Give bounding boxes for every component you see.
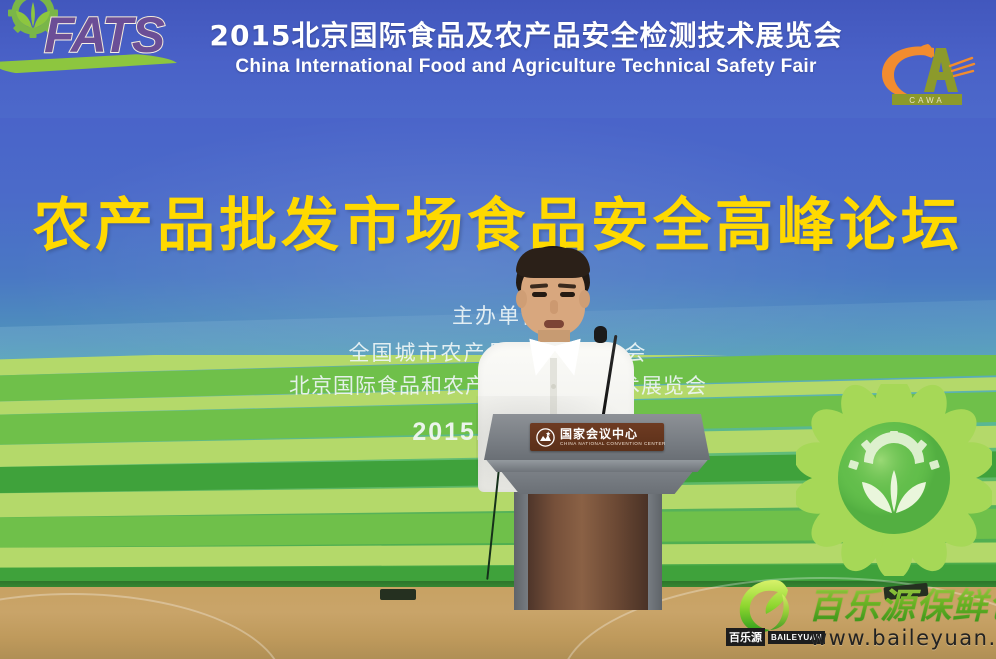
podium-side-right — [646, 492, 662, 610]
speaker-mouth — [544, 320, 564, 328]
cawa-wheat-icon: CAWA — [872, 36, 980, 110]
fats-logo: FATS — [0, 0, 176, 92]
speaker-ear-right — [579, 290, 590, 308]
watermark-badge-cn: 百乐源 — [726, 628, 765, 646]
venue-plaque-en: CHINA NATIONAL CONVENTION CENTER — [560, 442, 666, 447]
podium-top: 国家会议中心 CHINA NATIONAL CONVENTION CENTER — [484, 414, 710, 460]
photo-scene: FATS 2015北京国际食品及农产品安全检测技术展览会 China Inter… — [0, 0, 996, 659]
podium-mid-band — [500, 470, 694, 494]
green-sunflower-gear-icon — [796, 384, 992, 576]
microphone-head — [594, 326, 607, 343]
speaker-ear-left — [516, 290, 527, 308]
podium: 国家会议中心 CHINA NATIONAL CONVENTION CENTER — [484, 414, 710, 610]
banner-header-title-cn: 2015北京国际食品及农产品安全检测技术展览会 — [196, 14, 856, 54]
speaker-nose — [550, 300, 558, 314]
fats-logo-text: FATS — [44, 6, 164, 64]
venue-plaque-cn: 国家会议中心 — [560, 428, 666, 440]
podium-lip — [480, 458, 714, 472]
speaker-eye-left — [532, 292, 547, 297]
svg-text:CAWA: CAWA — [909, 96, 944, 105]
speaker-eye-right — [560, 292, 575, 297]
watermark-brand: 百乐源保鲜包装 — [808, 578, 996, 629]
mountain-star-icon — [536, 428, 555, 447]
venue-plaque: 国家会议中心 CHINA NATIONAL CONVENTION CENTER — [530, 423, 664, 451]
speaker-hair-top — [516, 248, 590, 278]
podium-wood-body — [528, 492, 648, 610]
banner-header-title-en: China International Food and Agriculture… — [196, 56, 856, 78]
watermark: 百乐源保鲜包装 百乐源 BAILEYUAN www.baileyuan.cn — [712, 574, 996, 654]
speaker-shirt-button — [551, 384, 556, 389]
watermark-url: www.baileyuan.cn — [810, 626, 996, 650]
